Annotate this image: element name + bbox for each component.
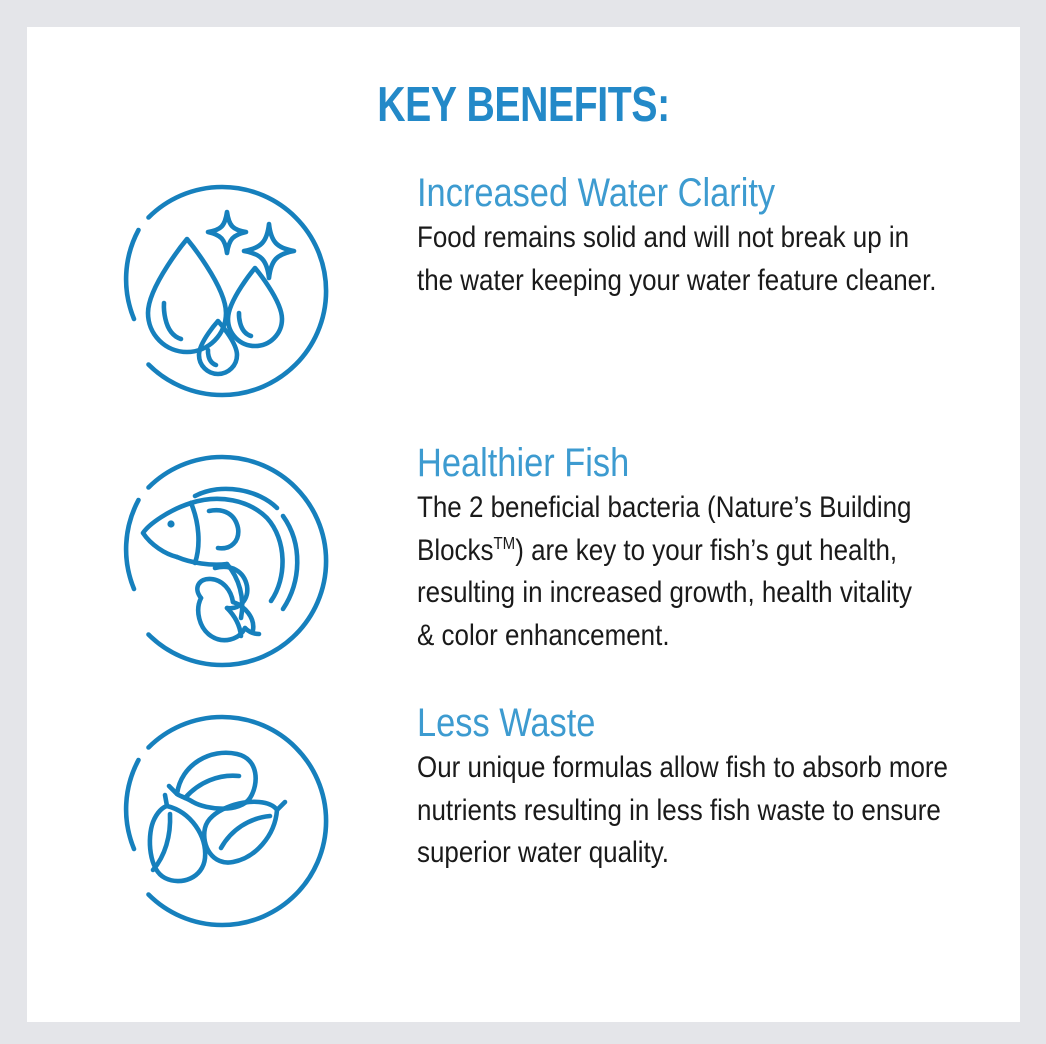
benefit-body-line: nutrients resulting in less fish waste t…	[417, 794, 941, 827]
benefit-icon-container	[27, 442, 417, 676]
benefit-body-line: superior water quality.	[417, 836, 669, 869]
benefit-item-less-waste: Less Waste Our unique formulas allow fis…	[27, 702, 1020, 936]
benefit-text-container: Increased Water Clarity Food remains sol…	[417, 172, 1020, 302]
benefit-body: Food remains solid and will not break up…	[417, 217, 995, 302]
benefit-text-container: Less Waste Our unique formulas allow fis…	[417, 702, 1020, 875]
water-droplets-sparkle-icon	[107, 176, 337, 406]
benefit-heading: Healthier Fish	[417, 442, 917, 485]
trademark-superscript: TM	[493, 534, 515, 553]
benefit-text-container: Healthier Fish The 2 beneficial bacteria…	[417, 442, 1020, 657]
benefit-icon-container	[27, 702, 417, 936]
benefit-body-line: The 2 beneficial bacteria (Nature’s Buil…	[417, 491, 911, 524]
benefit-body-line: & color enhancement.	[417, 619, 670, 652]
page-title: KEY BENEFITS:	[126, 77, 920, 133]
benefit-body-line: resulting in increased growth, health vi…	[417, 576, 912, 609]
benefit-heading: Increased Water Clarity	[417, 172, 917, 215]
benefit-body-line: Food remains solid and will not break up…	[417, 221, 909, 254]
fish-icon	[107, 446, 337, 676]
benefit-item-water-clarity: Increased Water Clarity Food remains sol…	[27, 172, 1020, 406]
benefits-card: KEY BENEFITS:	[27, 27, 1020, 1022]
benefit-body-line-pre: Blocks	[417, 534, 493, 567]
recycle-leaves-icon	[107, 706, 337, 936]
benefit-heading: Less Waste	[417, 702, 917, 745]
benefit-icon-container	[27, 172, 417, 406]
benefit-body-line: Our unique formulas allow fish to absorb…	[417, 751, 948, 784]
benefit-body-line-post: ) are key to your fish’s gut health,	[515, 534, 897, 567]
benefit-body: Our unique formulas allow fish to absorb…	[417, 747, 995, 874]
benefit-body: The 2 beneficial bacteria (Nature’s Buil…	[417, 487, 995, 657]
benefit-item-healthier-fish: Healthier Fish The 2 beneficial bacteria…	[27, 442, 1020, 676]
benefit-body-line: the water keeping your water feature cle…	[417, 264, 937, 297]
